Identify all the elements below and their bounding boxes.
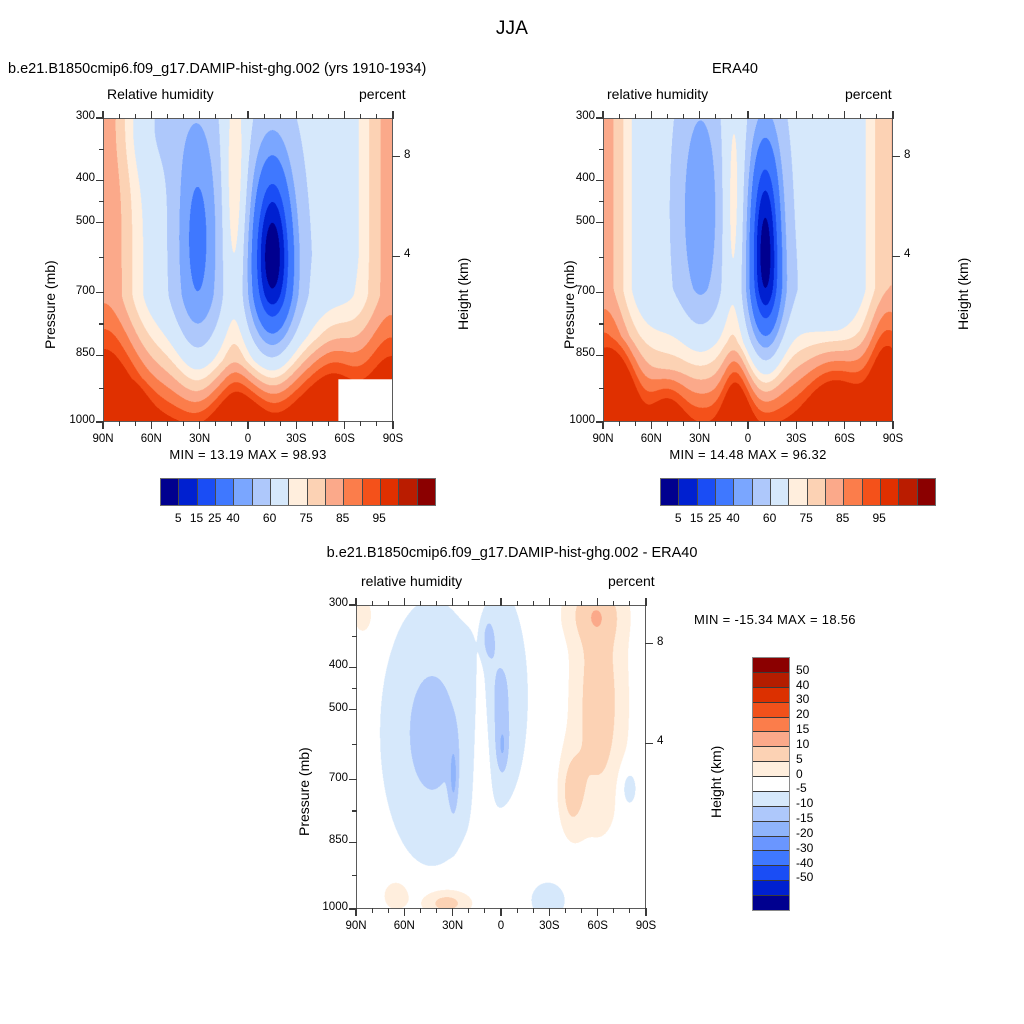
lat-tick-label: 60S	[576, 920, 620, 932]
pressure-tick-label: 850	[59, 347, 95, 359]
colorbar-cell[interactable]	[753, 866, 789, 881]
pressure-tick-label: 400	[312, 659, 348, 671]
colorbar-tick-label: -20	[796, 826, 813, 840]
colorbar-cell[interactable]	[661, 479, 679, 505]
colorbar-tick-label: 20	[796, 707, 809, 721]
colorbar-tick-label: 85	[323, 511, 363, 525]
lat-tick	[796, 421, 797, 429]
lat-tick-label: 60S	[823, 433, 867, 445]
height-axis-title-diff: Height (km)	[708, 746, 724, 818]
pressure-tick-label: 850	[312, 834, 348, 846]
colorbar-cell[interactable]	[753, 807, 789, 822]
lat-tick	[452, 908, 453, 916]
plot-panel-obs[interactable]	[603, 118, 893, 422]
lat-tick-label: 60N	[129, 433, 173, 445]
height-tick-label: 8	[657, 636, 663, 648]
colorbar-cell[interactable]	[844, 479, 862, 505]
colorbar-cell[interactable]	[863, 479, 881, 505]
lat-tick	[892, 421, 893, 429]
contour-field-obs	[604, 119, 892, 421]
pressure-tick-label: 400	[559, 172, 595, 184]
lat-tick	[296, 421, 297, 429]
colorbar-tick-label: 50	[796, 663, 809, 677]
colorbar-cell[interactable]	[753, 732, 789, 747]
colorbar-tick-label: -30	[796, 841, 813, 855]
colorbar-cell[interactable]	[753, 822, 789, 837]
height-tick	[892, 256, 900, 257]
colorbar-tick-label: 40	[713, 511, 753, 525]
lat-tick	[597, 908, 598, 916]
lat-tick-label: 90S	[871, 433, 915, 445]
colorbar-cell[interactable]	[753, 881, 789, 896]
height-tick	[392, 256, 400, 257]
colorbar-cell[interactable]	[881, 479, 899, 505]
lat-tick-label: 60N	[629, 433, 673, 445]
lat-tick-label: 90N	[581, 433, 625, 445]
pressure-tick-label: 500	[312, 702, 348, 714]
lat-tick-label: 30N	[178, 433, 222, 445]
panel-title-model: b.e21.B1850cmip6.f09_g17.DAMIP-hist-ghg.…	[8, 61, 426, 77]
colorbar-tick-label: 25	[695, 511, 735, 525]
lat-tick	[102, 421, 103, 429]
panel-units-label-model: percent	[359, 86, 406, 102]
colorbar-cell[interactable]	[253, 479, 271, 505]
lat-tick-label: 0	[726, 433, 770, 445]
pressure-tick-label: 400	[59, 172, 95, 184]
lat-tick	[747, 421, 748, 429]
lat-tick-label: 0	[479, 920, 523, 932]
colorbar-cell[interactable]	[753, 688, 789, 703]
season-title: JJA	[0, 18, 1024, 40]
colorbar-cell[interactable]	[918, 479, 935, 505]
pressure-tick-label: 300	[559, 110, 595, 122]
pressure-tick-label: 500	[559, 215, 595, 227]
colorbar-cell[interactable]	[753, 837, 789, 852]
lat-tick	[355, 908, 356, 916]
contour-field-model	[104, 119, 392, 421]
height-tick	[892, 156, 900, 157]
colorbar-cell[interactable]	[161, 479, 179, 505]
pressure-axis-title-model: Pressure (mb)	[42, 260, 58, 349]
colorbar-tick-label: 30	[796, 692, 809, 706]
lat-tick	[651, 421, 652, 429]
colorbar-cell[interactable]	[363, 479, 381, 505]
height-tick	[392, 156, 400, 157]
colorbar-cell[interactable]	[771, 479, 789, 505]
colorbar-cell[interactable]	[698, 479, 716, 505]
lat-tick	[549, 908, 550, 916]
lat-tick-label: 60S	[323, 433, 367, 445]
colorbar-tick-label: -50	[796, 870, 813, 884]
lat-tick-label: 60N	[382, 920, 426, 932]
colorbar-tick-label: -40	[796, 856, 813, 870]
colorbar-cell[interactable]	[753, 762, 789, 777]
minmax-model: MIN = 13.19 MAX = 98.93	[103, 447, 393, 462]
lat-tick-label: 30S	[527, 920, 571, 932]
panel-title-diff: b.e21.B1850cmip6.f09_g17.DAMIP-hist-ghg.…	[212, 545, 812, 561]
colorbar-tick-label: 0	[796, 767, 803, 781]
colorbar-cell[interactable]	[753, 673, 789, 688]
pressure-tick-label: 500	[59, 215, 95, 227]
colorbar-tick-label: 75	[286, 511, 326, 525]
colorbar-cell[interactable]	[381, 479, 399, 505]
panel-field-label-diff: relative humidity	[361, 573, 462, 589]
panel-field-label-obs: relative humidity	[607, 86, 708, 102]
colorbar-cell[interactable]	[753, 747, 789, 762]
colorbar-tick-label: 5	[658, 511, 698, 525]
colorbar-tick-label: -10	[796, 796, 813, 810]
lat-tick	[247, 421, 248, 429]
colorbar-tick-label: 75	[786, 511, 826, 525]
panel-units-label-obs: percent	[845, 86, 892, 102]
lat-tick	[392, 421, 393, 429]
height-tick-label: 4	[404, 248, 410, 260]
colorbar-tick-label: -15	[796, 811, 813, 825]
colorbar-tick-label: 15	[796, 722, 809, 736]
colorbar-cell[interactable]	[418, 479, 435, 505]
colorbar-cell[interactable]	[753, 851, 789, 866]
pressure-tick-label: 300	[312, 597, 348, 609]
lat-tick	[344, 421, 345, 429]
colorbar-cell[interactable]	[198, 479, 216, 505]
colorbar-cell[interactable]	[179, 479, 197, 505]
pressure-axis-title-diff: Pressure (mb)	[296, 747, 312, 836]
height-tick-label: 8	[904, 149, 910, 161]
lat-tick-label: 90N	[334, 920, 378, 932]
pressure-tick-label: 1000	[312, 901, 348, 913]
colorbar-cell[interactable]	[344, 479, 362, 505]
colorbar-obs[interactable]	[660, 478, 936, 506]
colorbar-tick-label: 95	[859, 511, 899, 525]
lat-tick-label: 30S	[774, 433, 818, 445]
lat-tick	[151, 421, 152, 429]
lat-tick-label: 30N	[678, 433, 722, 445]
colorbar-cell[interactable]	[734, 479, 752, 505]
lat-tick	[500, 908, 501, 916]
colorbar-tick-label: 5	[158, 511, 198, 525]
plot-panel-model[interactable]	[103, 118, 393, 422]
pressure-axis-title-obs: Pressure (mb)	[561, 260, 577, 349]
contour-field-diff	[357, 606, 645, 908]
colorbar-cell[interactable]	[753, 792, 789, 807]
lat-tick-label: 90N	[81, 433, 125, 445]
colorbar-tick-label: 95	[359, 511, 399, 525]
height-tick	[645, 743, 653, 744]
colorbar-cell[interactable]	[289, 479, 307, 505]
colorbar-tick-label: 85	[823, 511, 863, 525]
colorbar-cell[interactable]	[753, 658, 789, 673]
panel-field-label-model: Relative humidity	[107, 86, 214, 102]
colorbar-cell[interactable]	[308, 479, 326, 505]
colorbar-model[interactable]	[160, 478, 436, 506]
lat-tick	[844, 421, 845, 429]
panel-title-obs: ERA40	[585, 61, 885, 77]
minmax-obs: MIN = 14.48 MAX = 96.32	[603, 447, 893, 462]
colorbar-cell[interactable]	[753, 703, 789, 718]
lat-tick-label: 0	[226, 433, 270, 445]
lat-tick-label: 90S	[371, 433, 415, 445]
colorbar-tick-label: 60	[750, 511, 790, 525]
colorbar-tick-label: 5	[796, 752, 803, 766]
colorbar-tick-label: 60	[250, 511, 290, 525]
colorbar-cell[interactable]	[399, 479, 417, 505]
height-tick	[645, 643, 653, 644]
lat-tick	[199, 421, 200, 429]
colorbar-cell[interactable]	[753, 718, 789, 733]
colorbar-tick-label: 40	[796, 678, 809, 692]
colorbar-cell[interactable]	[753, 896, 789, 910]
colorbar-cell[interactable]	[826, 479, 844, 505]
pressure-tick-label: 1000	[59, 414, 95, 426]
colorbar-tick-label: 40	[213, 511, 253, 525]
panel-units-label-diff: percent	[608, 573, 655, 589]
colorbar-diff[interactable]	[752, 657, 790, 911]
lat-tick	[404, 908, 405, 916]
height-axis-title-obs: Height (km)	[955, 258, 971, 330]
colorbar-cell[interactable]	[789, 479, 807, 505]
colorbar-tick-label: 25	[195, 511, 235, 525]
colorbar-cell[interactable]	[271, 479, 289, 505]
colorbar-cell[interactable]	[899, 479, 917, 505]
lat-tick	[699, 421, 700, 429]
lat-tick-label: 30N	[431, 920, 475, 932]
colorbar-cell[interactable]	[326, 479, 344, 505]
height-tick-label: 4	[657, 735, 663, 747]
height-tick-label: 8	[404, 149, 410, 161]
plot-panel-diff[interactable]	[356, 605, 646, 909]
colorbar-cell[interactable]	[234, 479, 252, 505]
lat-tick-label: 90S	[624, 920, 668, 932]
colorbar-cell[interactable]	[808, 479, 826, 505]
height-axis-title-model: Height (km)	[455, 258, 471, 330]
colorbar-cell[interactable]	[216, 479, 234, 505]
colorbar-tick-label: -5	[796, 781, 807, 795]
lat-tick	[602, 421, 603, 429]
colorbar-tick-label: 10	[796, 737, 809, 751]
lat-tick	[645, 908, 646, 916]
pressure-tick-label: 300	[59, 110, 95, 122]
pressure-tick-label: 1000	[559, 414, 595, 426]
colorbar-cell[interactable]	[753, 479, 771, 505]
pressure-tick-label: 700	[312, 772, 348, 784]
lat-tick-label: 30S	[274, 433, 318, 445]
colorbar-cell[interactable]	[753, 777, 789, 792]
colorbar-cell[interactable]	[716, 479, 734, 505]
colorbar-cell[interactable]	[679, 479, 697, 505]
colorbar-tick-label: 15	[177, 511, 217, 525]
colorbar-tick-label: 15	[677, 511, 717, 525]
pressure-tick-label: 700	[59, 285, 95, 297]
minmax-diff: MIN = -15.34 MAX = 18.56	[694, 612, 856, 627]
height-tick-label: 4	[904, 248, 910, 260]
